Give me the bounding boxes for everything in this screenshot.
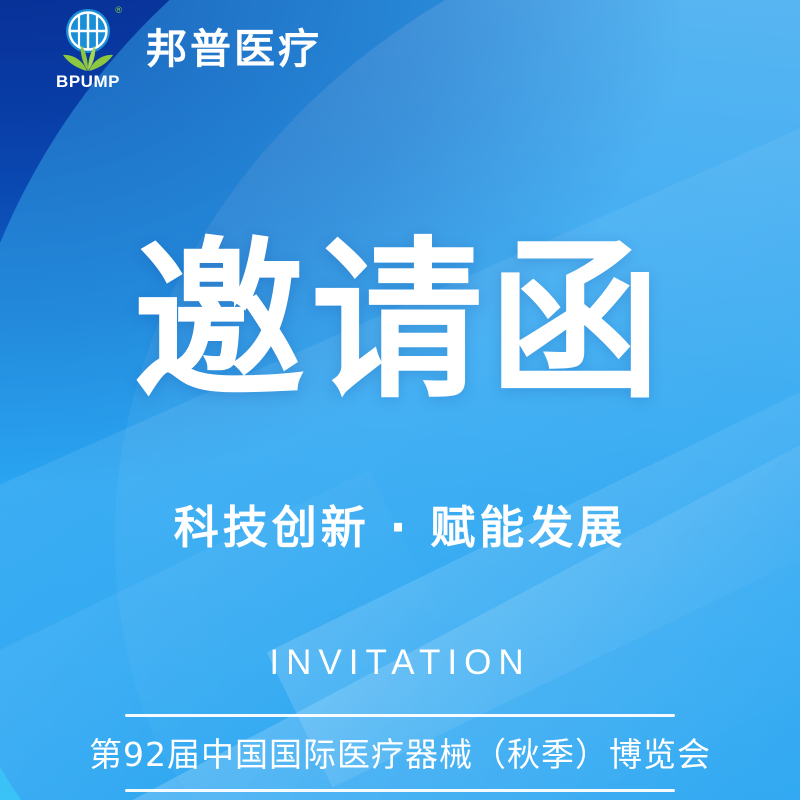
company-logo: ® BPUMP <box>52 8 124 90</box>
logo-wordmark: BPUMP <box>56 73 120 90</box>
registered-trademark-icon: ® <box>115 6 122 15</box>
green-sprout-leaves-icon <box>57 38 119 72</box>
page-subtitle: 科技创新 · 赋能发展 <box>0 505 800 550</box>
page-title: 邀请函 <box>0 231 800 413</box>
brand-header: ® BPUMP 邦普医疗 <box>52 8 322 90</box>
divider-top <box>125 714 675 717</box>
event-name: 第92届中国国际医疗器械（秋季）博览会 <box>89 717 711 789</box>
event-footer: 第92届中国国际医疗器械（秋季）博览会 <box>0 714 800 792</box>
divider-bottom <box>125 789 675 792</box>
english-title: INVITATION <box>0 645 800 680</box>
brand-name-chinese: 邦普医疗 <box>146 29 322 70</box>
invitation-poster: ® BPUMP 邦普医疗 邀请函 科技创新 · 赋能发展 INVITATION … <box>0 0 800 800</box>
